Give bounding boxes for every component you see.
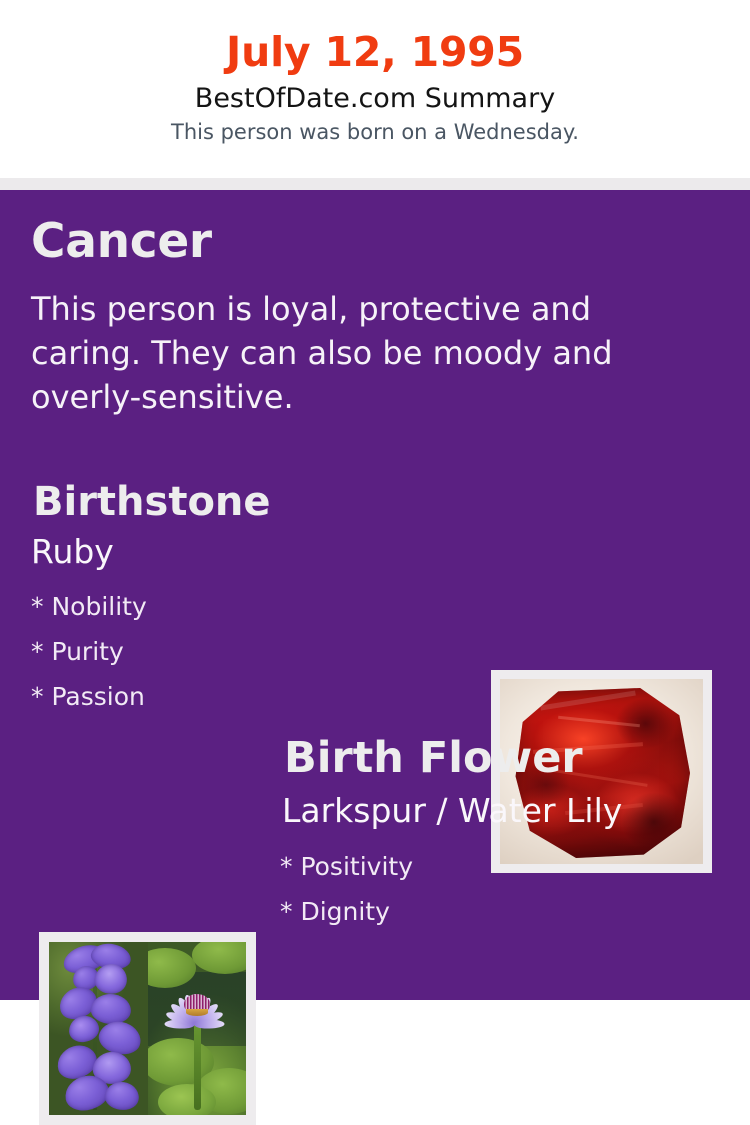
birthstone-traits-list: * Nobility * Purity * Passion [31,585,147,719]
list-item: * Purity [31,630,147,675]
birth-flower-title: Birth Flower [284,737,583,780]
birth-flower-photo-frame [39,932,256,1125]
list-item: * Dignity [280,890,413,935]
page-title-date: July 12, 1995 [0,0,750,76]
zodiac-sign-title: Cancer [31,218,212,265]
birthstone-title: Birthstone [33,482,271,522]
list-item: * Positivity [280,845,413,890]
zodiac-description: This person is loyal, protective and car… [31,287,651,419]
water-lily-photo-panel [148,942,246,1115]
birth-flower-name: Larkspur / Water Lily [282,794,622,827]
water-lily-center-base [186,1009,208,1016]
birth-flower-traits-list: * Positivity * Dignity [280,845,413,935]
body-panel: Cancer This person is loyal, protective … [0,190,750,1000]
list-item: * Nobility [31,585,147,630]
water-lily-bloom [166,970,230,1024]
birth-weekday-note: This person was born on a Wednesday. [0,114,750,144]
birthstone-name: Ruby [31,535,114,568]
summary-card: July 12, 1995 BestOfDate.com Summary Thi… [0,0,750,1000]
lily-pad [158,1084,216,1115]
header-divider [0,178,750,190]
larkspur-photo-panel [49,942,148,1115]
water-lily-stem [194,1014,201,1110]
ruby-shadow-region [622,793,686,851]
list-item: * Passion [31,675,147,720]
site-summary-subtitle: BestOfDate.com Summary [0,76,750,114]
birth-flower-photo [49,942,246,1115]
header: July 12, 1995 BestOfDate.com Summary Thi… [0,0,750,178]
